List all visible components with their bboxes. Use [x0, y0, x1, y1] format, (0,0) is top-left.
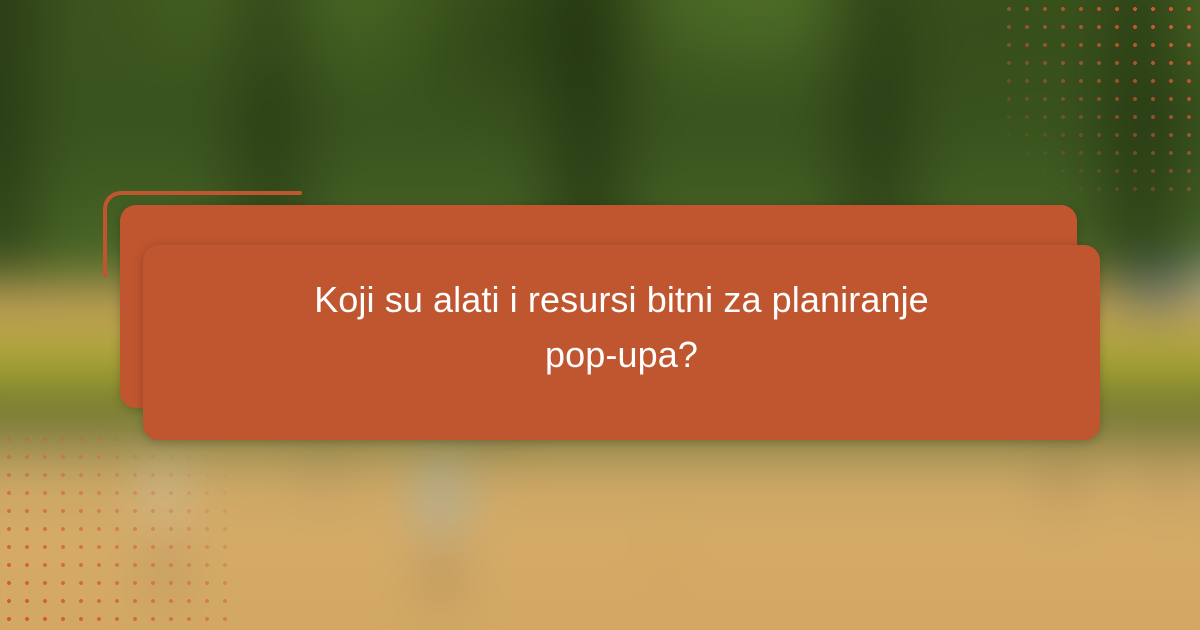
question-headline-line-2: pop-upa? — [314, 327, 929, 382]
halftone-dots-bottom-left — [0, 430, 240, 630]
question-headline-line-1: Koji su alati i resursi bitni za planira… — [314, 272, 929, 327]
question-headline-lines: Koji su alati i resursi bitni za planira… — [314, 272, 929, 382]
halftone-dots-top-right — [1000, 0, 1200, 200]
question-headline: Koji su alati i resursi bitni za planira… — [143, 245, 1100, 408]
share-card-canvas: Koji su alati i resursi bitni za planira… — [0, 0, 1200, 630]
